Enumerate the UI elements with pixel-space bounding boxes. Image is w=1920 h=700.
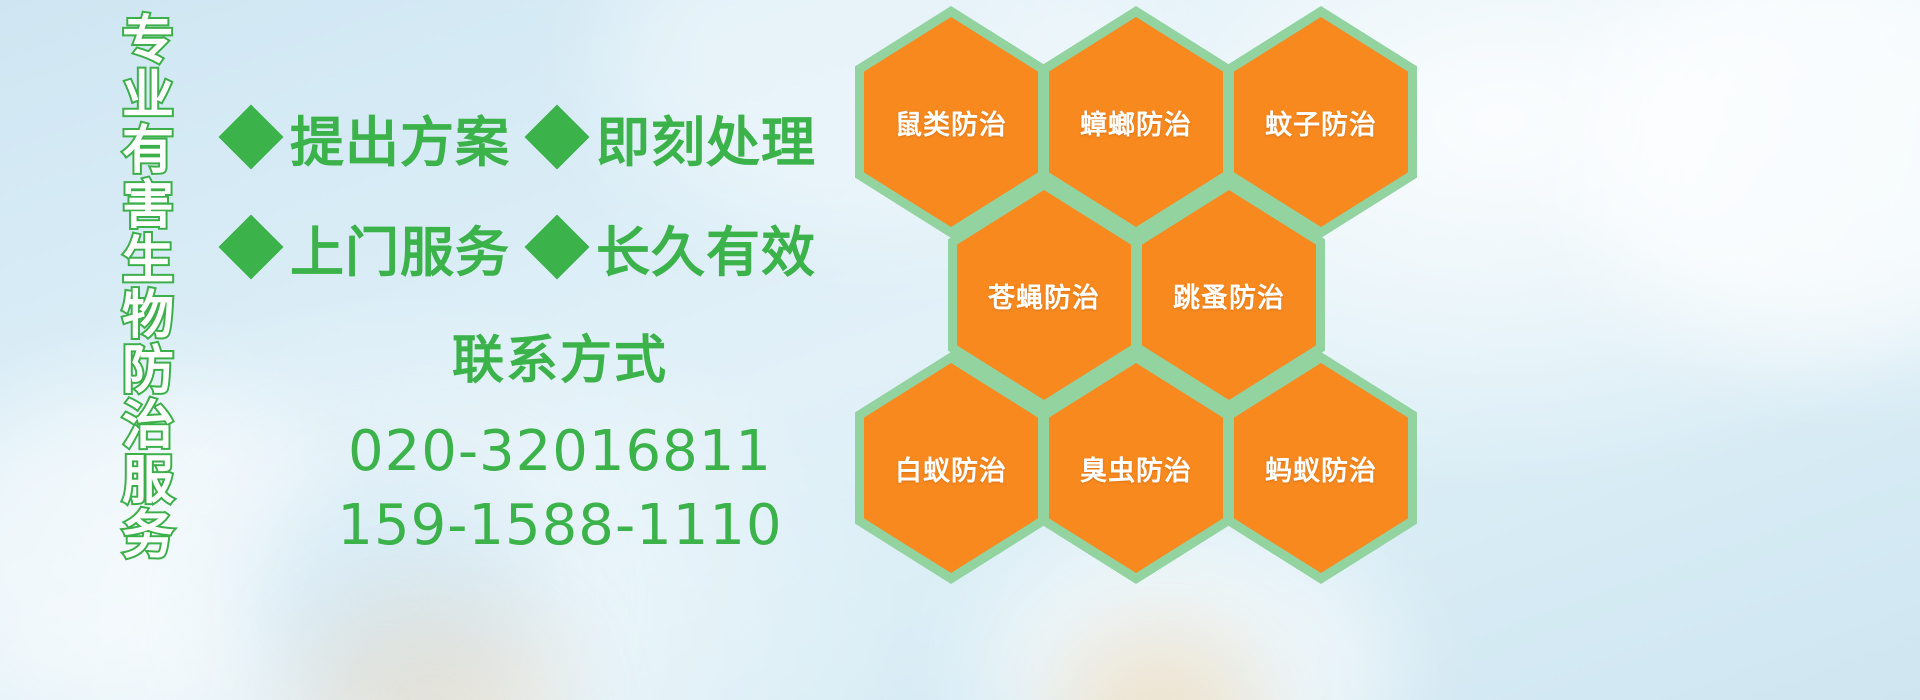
- vertical-headline-char: 物: [122, 289, 174, 344]
- service-hex-termite[interactable]: 白蚁防治: [855, 352, 1047, 584]
- contact-phone-mobile[interactable]: 159-1588-1110: [300, 489, 820, 563]
- vertical-headline-char: 有: [122, 124, 174, 179]
- feature-label: 上门服务: [290, 208, 510, 287]
- contact-label: 联系方式: [300, 318, 820, 393]
- feature-row: 提出方案 即刻处理: [228, 82, 868, 192]
- vertical-headline-char: 生: [122, 234, 174, 289]
- vertical-headline-char: 治: [122, 399, 174, 454]
- vertical-headline-char: 务: [122, 509, 174, 564]
- service-hex-bedbug[interactable]: 臭虫防治: [1040, 352, 1232, 584]
- background-blob: [1580, 0, 1920, 360]
- background-blob: [300, 600, 560, 700]
- service-hex-ant[interactable]: 蚂蚁防治: [1225, 352, 1417, 584]
- service-honeycomb: 鼠类防治 蟑螂防治 蚊子防治 苍蝇防治 跳蚤防治 白蚁防治: [855, 0, 1475, 700]
- feature-item: 长久有效: [534, 208, 816, 287]
- vertical-headline: 专 业 有 害 生 物 防 治 服 务: [108, 14, 188, 564]
- service-hex-label: 白蚁防治: [855, 352, 1047, 584]
- service-hex-label: 蚂蚁防治: [1225, 352, 1417, 584]
- diamond-bullet-icon: [524, 214, 589, 279]
- feature-label: 长久有效: [596, 208, 816, 287]
- service-hex-label: 臭虫防治: [1040, 352, 1232, 584]
- vertical-headline-char: 防: [122, 344, 174, 399]
- feature-label: 即刻处理: [596, 98, 816, 177]
- feature-item: 提出方案: [228, 98, 510, 177]
- vertical-headline-char: 业: [122, 69, 174, 124]
- pest-control-banner: 专 业 有 害 生 物 防 治 服 务 提出方案 即刻处理 上门服务: [0, 0, 1920, 700]
- contact-phone-landline[interactable]: 020-32016811: [300, 415, 820, 489]
- diamond-bullet-icon: [218, 214, 283, 279]
- feature-item: 上门服务: [228, 208, 510, 287]
- feature-list: 提出方案 即刻处理 上门服务 长久有效: [228, 82, 868, 302]
- diamond-bullet-icon: [524, 104, 589, 169]
- vertical-headline-char: 服: [122, 454, 174, 509]
- feature-row: 上门服务 长久有效: [228, 192, 868, 302]
- diamond-bullet-icon: [218, 104, 283, 169]
- contact-block: 联系方式 020-32016811 159-1588-1110: [300, 318, 820, 563]
- vertical-headline-char: 害: [122, 179, 174, 234]
- feature-label: 提出方案: [290, 98, 510, 177]
- vertical-headline-char: 专: [122, 14, 174, 69]
- feature-item: 即刻处理: [534, 98, 816, 177]
